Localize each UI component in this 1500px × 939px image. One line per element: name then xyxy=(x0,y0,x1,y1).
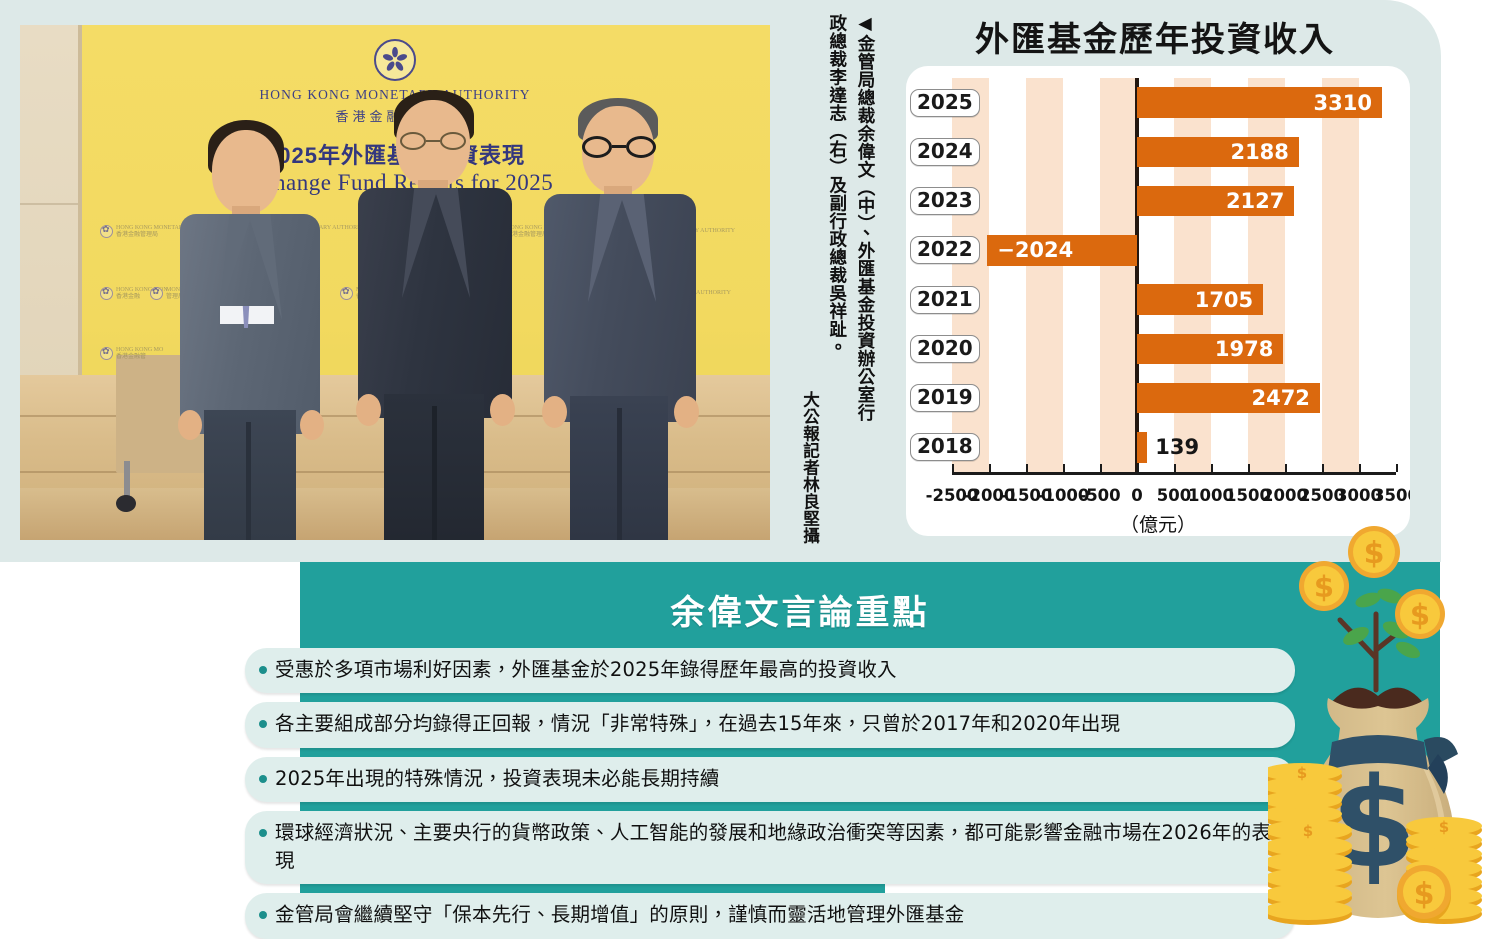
x-axis-tick xyxy=(1285,464,1287,472)
photo-side-wall xyxy=(20,25,78,385)
coin-right: $ xyxy=(1395,589,1445,639)
chart-bar-value: 2472 xyxy=(1251,386,1309,410)
bullet-dot-icon xyxy=(259,720,267,728)
highlights-title: 余偉文言論重點 xyxy=(300,585,1300,634)
svg-text:$: $ xyxy=(1410,598,1430,632)
x-axis-tick-label: -500 xyxy=(1079,486,1120,505)
person-center xyxy=(340,88,530,540)
bullet-dot-icon xyxy=(259,911,267,919)
highlight-item-text: 環球經濟狀況、主要央行的貨幣政策、人工智能的發展和地緣政治衝突等因素，都可能影響… xyxy=(275,819,1279,876)
bullet-dot-icon xyxy=(259,775,267,783)
highlight-item: 環球經濟狀況、主要央行的貨幣政策、人工智能的發展和地緣政治衝突等因素，都可能影響… xyxy=(245,811,1295,885)
photo-wall-edge xyxy=(78,25,82,385)
highlight-item-text: 2025年出現的特殊情況，投資表現未必能長期持續 xyxy=(275,765,719,793)
x-axis-tick xyxy=(1026,464,1028,472)
chart-title: 外匯基金歷年投資收入 xyxy=(905,12,1405,61)
coin-top: $ xyxy=(1348,526,1400,578)
chart-bar-value: −2024 xyxy=(997,238,1073,262)
svg-text:$: $ xyxy=(1414,877,1435,912)
x-axis-tick xyxy=(1248,464,1250,472)
chart-bar-value: 1978 xyxy=(1215,337,1273,361)
coin-stack-left: $ $ xyxy=(1268,763,1352,925)
highlights-list: 受惠於多項市場利好因素，外匯基金於2025年錄得歷年最高的投資收入各主要組成部分… xyxy=(245,648,1295,939)
x-axis-tick-labels: -2500-2000-1500-1000-5000500100015002000… xyxy=(906,486,1410,508)
press-conference-photo: HONG KONG MONETARY AUTHORITY 香港金融管理局 202… xyxy=(20,25,770,540)
chart-row: 1705 xyxy=(952,284,1396,315)
x-axis xyxy=(952,472,1396,484)
person-right xyxy=(528,92,714,540)
x-axis-tick xyxy=(1359,464,1361,472)
x-axis-tick xyxy=(1100,464,1102,472)
caption-line-2: 政總裁李達志（右）及副行政總裁吳祥趾。 xyxy=(824,14,850,544)
highlight-item-text: 各主要組成部分均錄得正回報，情況「非常特殊」，在過去15年來，只曾於2017年和… xyxy=(275,710,1120,738)
chart-bar-value: 3310 xyxy=(1313,91,1371,115)
x-axis-tick-label: 500 xyxy=(1157,486,1191,505)
svg-text:$: $ xyxy=(1303,822,1313,840)
svg-text:$: $ xyxy=(1297,764,1307,782)
highlight-item: 受惠於多項市場利好因素，外匯基金於2025年錄得歷年最高的投資收入 xyxy=(245,648,1295,693)
chart-bar-value: 1705 xyxy=(1195,288,1253,312)
eyeglasses-icon xyxy=(582,136,656,160)
chart-bar-value: 139 xyxy=(1155,435,1199,459)
photo-lectern-leg xyxy=(124,461,130,499)
chart-row: −2024 xyxy=(952,235,1396,266)
x-axis-tick xyxy=(1396,464,1398,472)
caption-credit: 大公報記者林良堅攝 xyxy=(797,391,822,544)
chart-plot-area: 2025331020242188202321272022−20242021170… xyxy=(952,78,1396,472)
x-axis-tick xyxy=(1174,464,1176,472)
photo-lectern-wheel xyxy=(116,495,136,512)
chart-bar-value: 2127 xyxy=(1226,189,1284,213)
coin-front: $ xyxy=(1397,865,1451,923)
bullet-dot-icon xyxy=(259,829,267,837)
svg-text:$: $ xyxy=(1364,536,1385,571)
chart-row: 139 xyxy=(952,432,1396,463)
photo-caption: ◀金管局總裁余偉文（中）、外匯基金投資辦公室行 政總裁李達志（右）及副行政總裁吳… xyxy=(782,14,878,544)
x-axis-tick-label: 3500 xyxy=(1373,486,1410,505)
x-axis-tick xyxy=(1211,464,1213,472)
chart-bar[interactable] xyxy=(1137,432,1147,463)
highlight-item-text: 金管局會繼續堅守「保本先行、長期增值」的原則，謹慎而靈活地管理外匯基金 xyxy=(275,901,965,929)
x-axis-tick-label: 0 xyxy=(1131,486,1142,505)
chart-row: 2188 xyxy=(952,137,1396,168)
chart-row: 3310 xyxy=(952,87,1396,118)
chart-card: 2025331020242188202321272022−20242021170… xyxy=(906,66,1410,536)
chart-row: 1978 xyxy=(952,334,1396,365)
coin-left: $ xyxy=(1299,561,1349,611)
x-axis-tick xyxy=(989,464,991,472)
money-bag-with-coin-plant-icon: $ $ $ $ $ $ xyxy=(1268,518,1500,934)
chart-row: 2127 xyxy=(952,186,1396,217)
eyeglasses-icon xyxy=(398,132,470,152)
bauhinia-logo-icon xyxy=(374,39,416,81)
wall-logo-mark: HONG KONG MO香港金融管 xyxy=(100,347,163,361)
svg-text:$: $ xyxy=(1314,570,1334,604)
person-left xyxy=(160,110,340,540)
x-axis-tick xyxy=(1137,464,1139,472)
caption-line-1: ◀金管局總裁余偉文（中）、外匯基金投資辦公室行 xyxy=(852,14,878,544)
svg-text:$: $ xyxy=(1439,818,1449,836)
bullet-dot-icon xyxy=(259,666,267,674)
highlight-item-text: 受惠於多項市場利好因素，外匯基金於2025年錄得歷年最高的投資收入 xyxy=(275,656,897,684)
chart-row: 2472 xyxy=(952,383,1396,414)
x-axis-tick xyxy=(1322,464,1324,472)
highlight-item: 各主要組成部分均錄得正回報，情況「非常特殊」，在過去15年來，只曾於2017年和… xyxy=(245,702,1295,747)
chart-bar-value: 2188 xyxy=(1230,140,1288,164)
x-axis-tick xyxy=(1063,464,1065,472)
x-axis-tick xyxy=(952,464,954,472)
highlight-item: 金管局會繼續堅守「保本先行、長期增值」的原則，謹慎而靈活地管理外匯基金 xyxy=(245,893,1295,938)
highlight-item: 2025年出現的特殊情況，投資表現未必能長期持續 xyxy=(245,757,1295,802)
